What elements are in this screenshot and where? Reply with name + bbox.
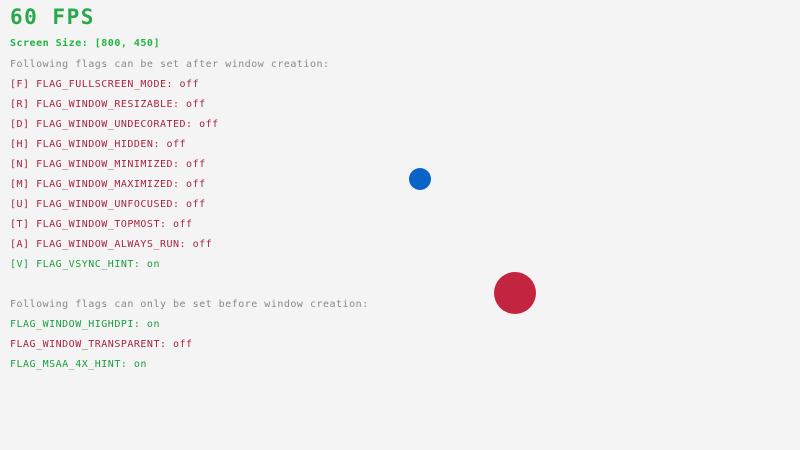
app-window: 60 FPS Screen Size: [800, 450] Following… [0, 0, 800, 450]
flag-line-flag-msaa-4x-hint[interactable]: FLAG_MSAA_4X_HINT: on [10, 359, 147, 370]
screen-size-label: Screen Size: [800, 450] [10, 38, 160, 49]
flag-line-flag-window-minimized[interactable]: [N] FLAG_WINDOW_MINIMIZED: off [10, 159, 206, 170]
flag-line-flag-fullscreen-mode[interactable]: [F] FLAG_FULLSCREEN_MODE: off [10, 79, 199, 90]
flag-line-flag-window-always-run[interactable]: [A] FLAG_WINDOW_ALWAYS_RUN: off [10, 239, 212, 250]
flag-line-flag-window-highdpi[interactable]: FLAG_WINDOW_HIGHDPI: on [10, 319, 160, 330]
bouncing-ball-red [494, 272, 536, 314]
bouncing-ball-blue [409, 168, 431, 190]
flag-line-flag-window-hidden[interactable]: [H] FLAG_WINDOW_HIDDEN: off [10, 139, 186, 150]
flag-line-flag-vsync-hint[interactable]: [V] FLAG_VSYNC_HINT: on [10, 259, 160, 270]
flag-line-flag-window-resizable[interactable]: [R] FLAG_WINDOW_RESIZABLE: off [10, 99, 206, 110]
flag-line-flag-window-unfocused[interactable]: [U] FLAG_WINDOW_UNFOCUSED: off [10, 199, 206, 210]
creation-flags-header: Following flags can only be set before w… [10, 299, 369, 310]
fps-counter: 60 FPS [10, 6, 95, 28]
flag-line-flag-window-undecorated[interactable]: [D] FLAG_WINDOW_UNDECORATED: off [10, 119, 219, 130]
flag-line-flag-window-topmost[interactable]: [T] FLAG_WINDOW_TOPMOST: off [10, 219, 193, 230]
runtime-flags-header: Following flags can be set after window … [10, 59, 330, 70]
flag-line-flag-window-maximized[interactable]: [M] FLAG_WINDOW_MAXIMIZED: off [10, 179, 206, 190]
flag-line-flag-window-transparent[interactable]: FLAG_WINDOW_TRANSPARENT: off [10, 339, 193, 350]
